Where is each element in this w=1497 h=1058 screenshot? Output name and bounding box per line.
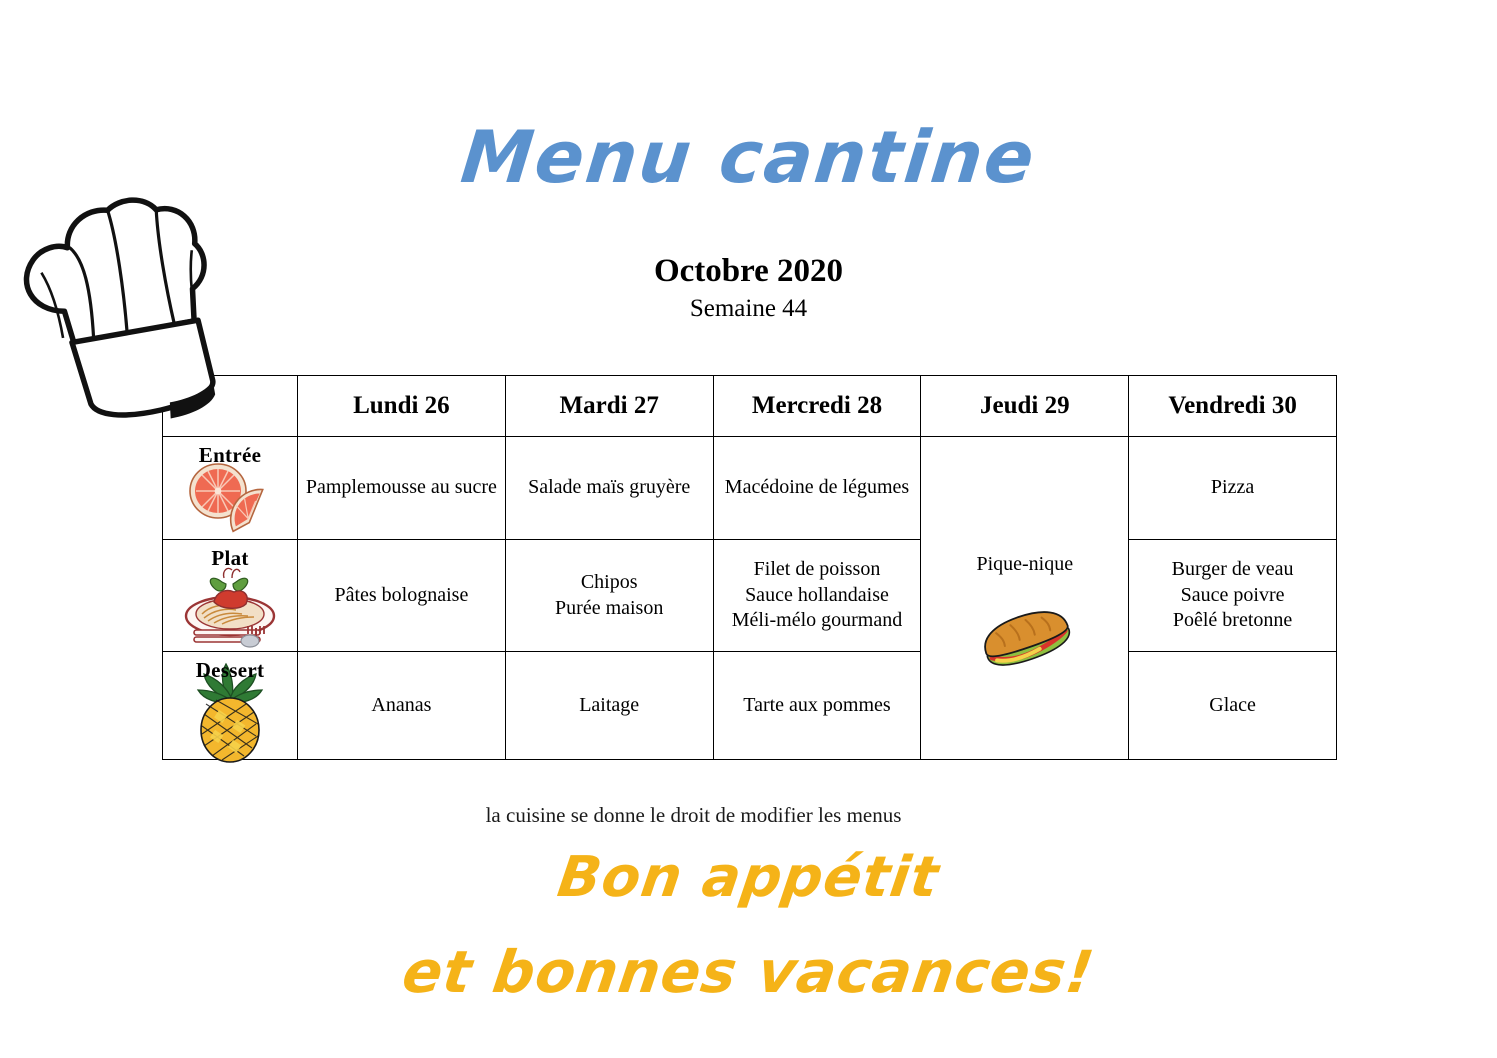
- cell-dessert-mardi: Laitage: [505, 652, 713, 760]
- header-day-lundi: Lundi 26: [298, 376, 506, 437]
- header-day-mardi: Mardi 27: [505, 376, 713, 437]
- sandwich-baguette-icon: [921, 604, 1128, 670]
- disclaimer-text: la cuisine se donne le droit de modifier…: [0, 803, 1497, 828]
- cell-entree-mercredi: Macédoine de légumes: [713, 437, 921, 540]
- cell-dessert-vendredi: Glace: [1129, 652, 1337, 760]
- cell-entree-lundi: Pamplemousse au sucre: [298, 437, 506, 540]
- cell-entree-vendredi: Pizza: [1129, 437, 1337, 540]
- grapefruit-icon: [163, 461, 297, 533]
- row-label-plat-text: Plat: [163, 546, 297, 571]
- cell-plat-lundi: Pâtes bolognaise: [298, 540, 506, 652]
- cell-entree-mardi: Salade maïs gruyère: [505, 437, 713, 540]
- header-day-jeudi: Jeudi 29: [921, 376, 1129, 437]
- menu-page: Menu cantine Octobre 2020 Semaine 44 Lun…: [0, 0, 1497, 1058]
- table-row-dessert: Dessert: [163, 652, 1337, 760]
- table-row-plat: Plat: [163, 540, 1337, 652]
- header-day-mercredi: Mercredi 28: [713, 376, 921, 437]
- header-day-vendredi: Vendredi 30: [1129, 376, 1337, 437]
- row-label-dessert: Dessert: [163, 652, 298, 760]
- table-header-row: Lundi 26 Mardi 27 Mercredi 28 Jeudi 29 V…: [163, 376, 1337, 437]
- chef-hat-icon: [4, 183, 244, 448]
- row-label-plat: Plat: [163, 540, 298, 652]
- bon-appetit-text: Bon appétit: [0, 845, 1497, 910]
- cell-dessert-lundi: Ananas: [298, 652, 506, 760]
- bonnes-vacances-text: et bonnes vacances!: [0, 938, 1497, 1006]
- pique-nique-label: Pique-nique: [921, 553, 1128, 576]
- cell-plat-mercredi: Filet de poisson Sauce hollandaise Méli-…: [713, 540, 921, 652]
- cell-plat-vendredi: Burger de veau Sauce poivre Poêlé breton…: [1129, 540, 1337, 652]
- spaghetti-plate-icon: [163, 564, 297, 650]
- table-row-entree: Entrée: [163, 437, 1337, 540]
- row-label-dessert-text: Dessert: [163, 658, 297, 683]
- cell-plat-mardi: Chipos Purée maison: [505, 540, 713, 652]
- row-label-entree: Entrée: [163, 437, 298, 540]
- cell-jeudi-pique-nique: Pique-nique: [921, 437, 1129, 760]
- menu-table: Lundi 26 Mardi 27 Mercredi 28 Jeudi 29 V…: [162, 375, 1337, 760]
- cell-dessert-mercredi: Tarte aux pommes: [713, 652, 921, 760]
